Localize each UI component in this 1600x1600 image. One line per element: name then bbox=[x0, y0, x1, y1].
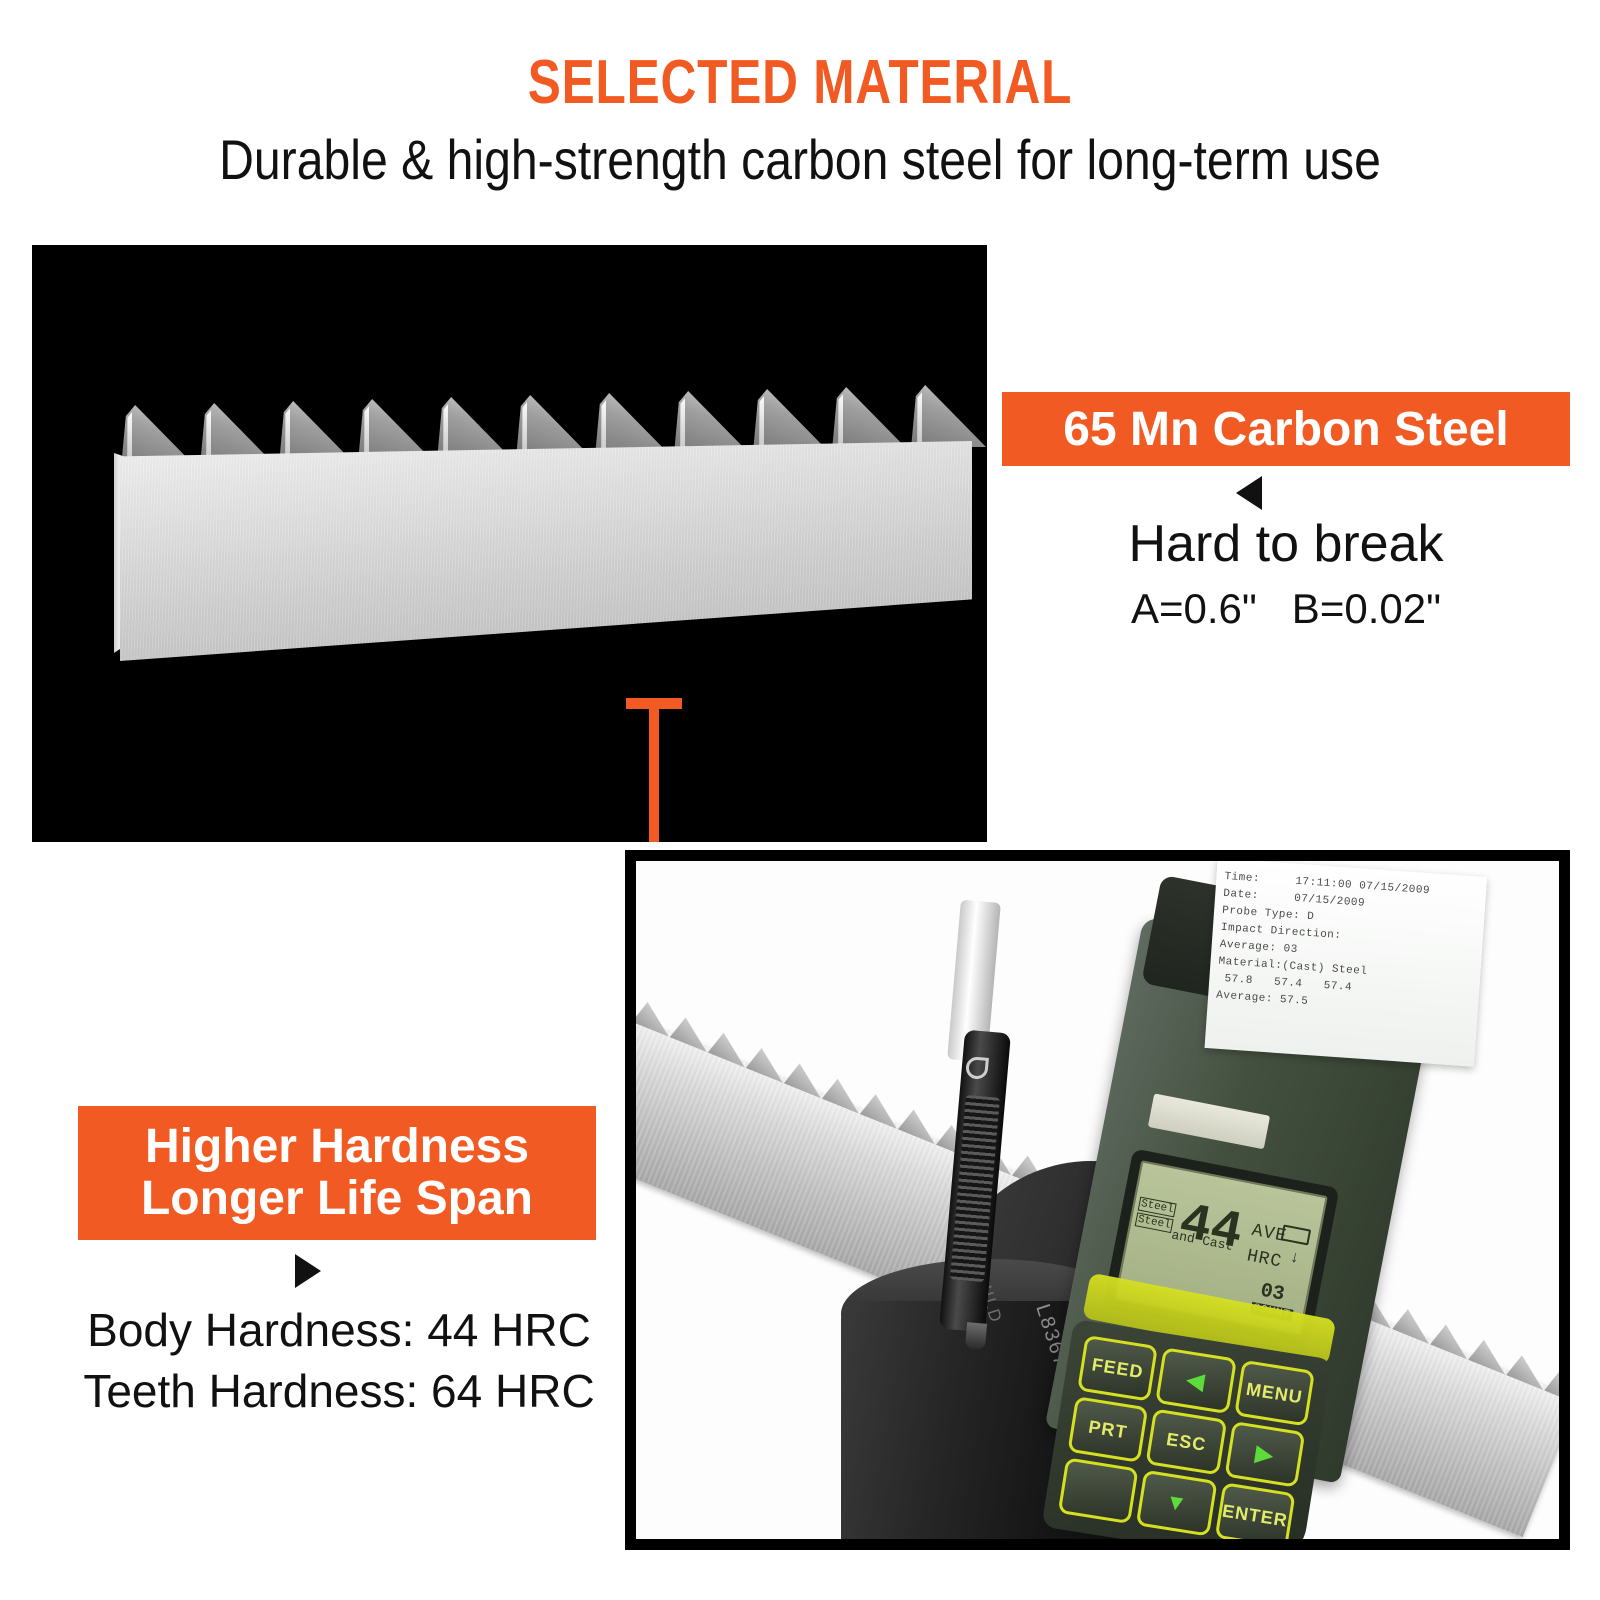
blade-tooth bbox=[671, 391, 749, 453]
page-title: SELECTED MATERIAL bbox=[160, 52, 1440, 114]
blade-closeup-photo: A B bbox=[32, 245, 987, 842]
print-key[interactable]: PRT bbox=[1067, 1396, 1148, 1463]
triangle-right-icon bbox=[295, 1254, 321, 1288]
benefit-text: Hard to break bbox=[1002, 516, 1570, 573]
body-hardness-text: Body Hardness: 44 HRC bbox=[44, 1300, 634, 1361]
page-subtitle: Durable & high-strength carbon steel for… bbox=[112, 132, 1488, 188]
blade-illustration: A B bbox=[32, 245, 987, 842]
enter-key[interactable]: ENTER bbox=[1214, 1482, 1295, 1549]
lcd-hrc-label: HRC bbox=[1245, 1246, 1284, 1272]
arrow-left-key[interactable]: ◀ bbox=[1155, 1347, 1236, 1414]
triangle-left-icon bbox=[1236, 476, 1262, 510]
probe-tip bbox=[965, 1322, 987, 1350]
device-label-slot bbox=[1148, 1093, 1270, 1149]
blade-tooth bbox=[908, 385, 986, 447]
arrow-down-key[interactable]: ▼ bbox=[1136, 1470, 1217, 1537]
feed-key[interactable]: FEED bbox=[1077, 1335, 1158, 1402]
hardness-banner-line1: Higher Hardness bbox=[145, 1121, 529, 1173]
keypad-grid[interactable]: FEED◀MENUPRTESC▶▼ENTER bbox=[1058, 1335, 1315, 1549]
blade-tooth bbox=[592, 393, 670, 455]
teeth-hardness-text: Teeth Hardness: 64 HRC bbox=[44, 1361, 634, 1422]
blank-key[interactable] bbox=[1058, 1457, 1139, 1524]
hardness-banner: Higher Hardness Longer Life Span bbox=[78, 1106, 596, 1240]
dimension-a-line bbox=[649, 700, 659, 842]
blade-tooth bbox=[513, 395, 591, 457]
hardness-banner-line2: Longer Life Span bbox=[141, 1173, 533, 1225]
hardness-values: Body Hardness: 44 HRC Teeth Hardness: 64… bbox=[44, 1300, 634, 1421]
printout-paper: Time: 17:11:00 07/15/2009Date: 07/15/200… bbox=[1205, 858, 1488, 1066]
material-banner: 65 Mn Carbon Steel bbox=[1002, 392, 1570, 466]
dimension-values-text: A=0.6" B=0.02" bbox=[1002, 586, 1570, 632]
infographic-page: SELECTED MATERIAL Durable & high-strengt… bbox=[0, 0, 1600, 1600]
arrow-down-icon: ↓ bbox=[1288, 1248, 1301, 1268]
lcd-reading: 44 bbox=[1175, 1197, 1246, 1260]
lcd-count-value: 03 bbox=[1258, 1279, 1286, 1306]
blade-tooth bbox=[829, 387, 907, 449]
escape-key[interactable]: ESC bbox=[1146, 1409, 1227, 1476]
arrow-right-key[interactable]: ▶ bbox=[1224, 1421, 1305, 1488]
blade-tooth bbox=[750, 389, 828, 451]
menu-key[interactable]: MENU bbox=[1234, 1360, 1315, 1427]
blade-body bbox=[120, 441, 972, 661]
device-keypad[interactable]: FEED◀MENUPRTESC▶▼ENTER bbox=[1041, 1319, 1333, 1550]
hardness-test-photo: HILD L83678 Steel Steel and Cast 44 AVE … bbox=[625, 850, 1570, 1550]
